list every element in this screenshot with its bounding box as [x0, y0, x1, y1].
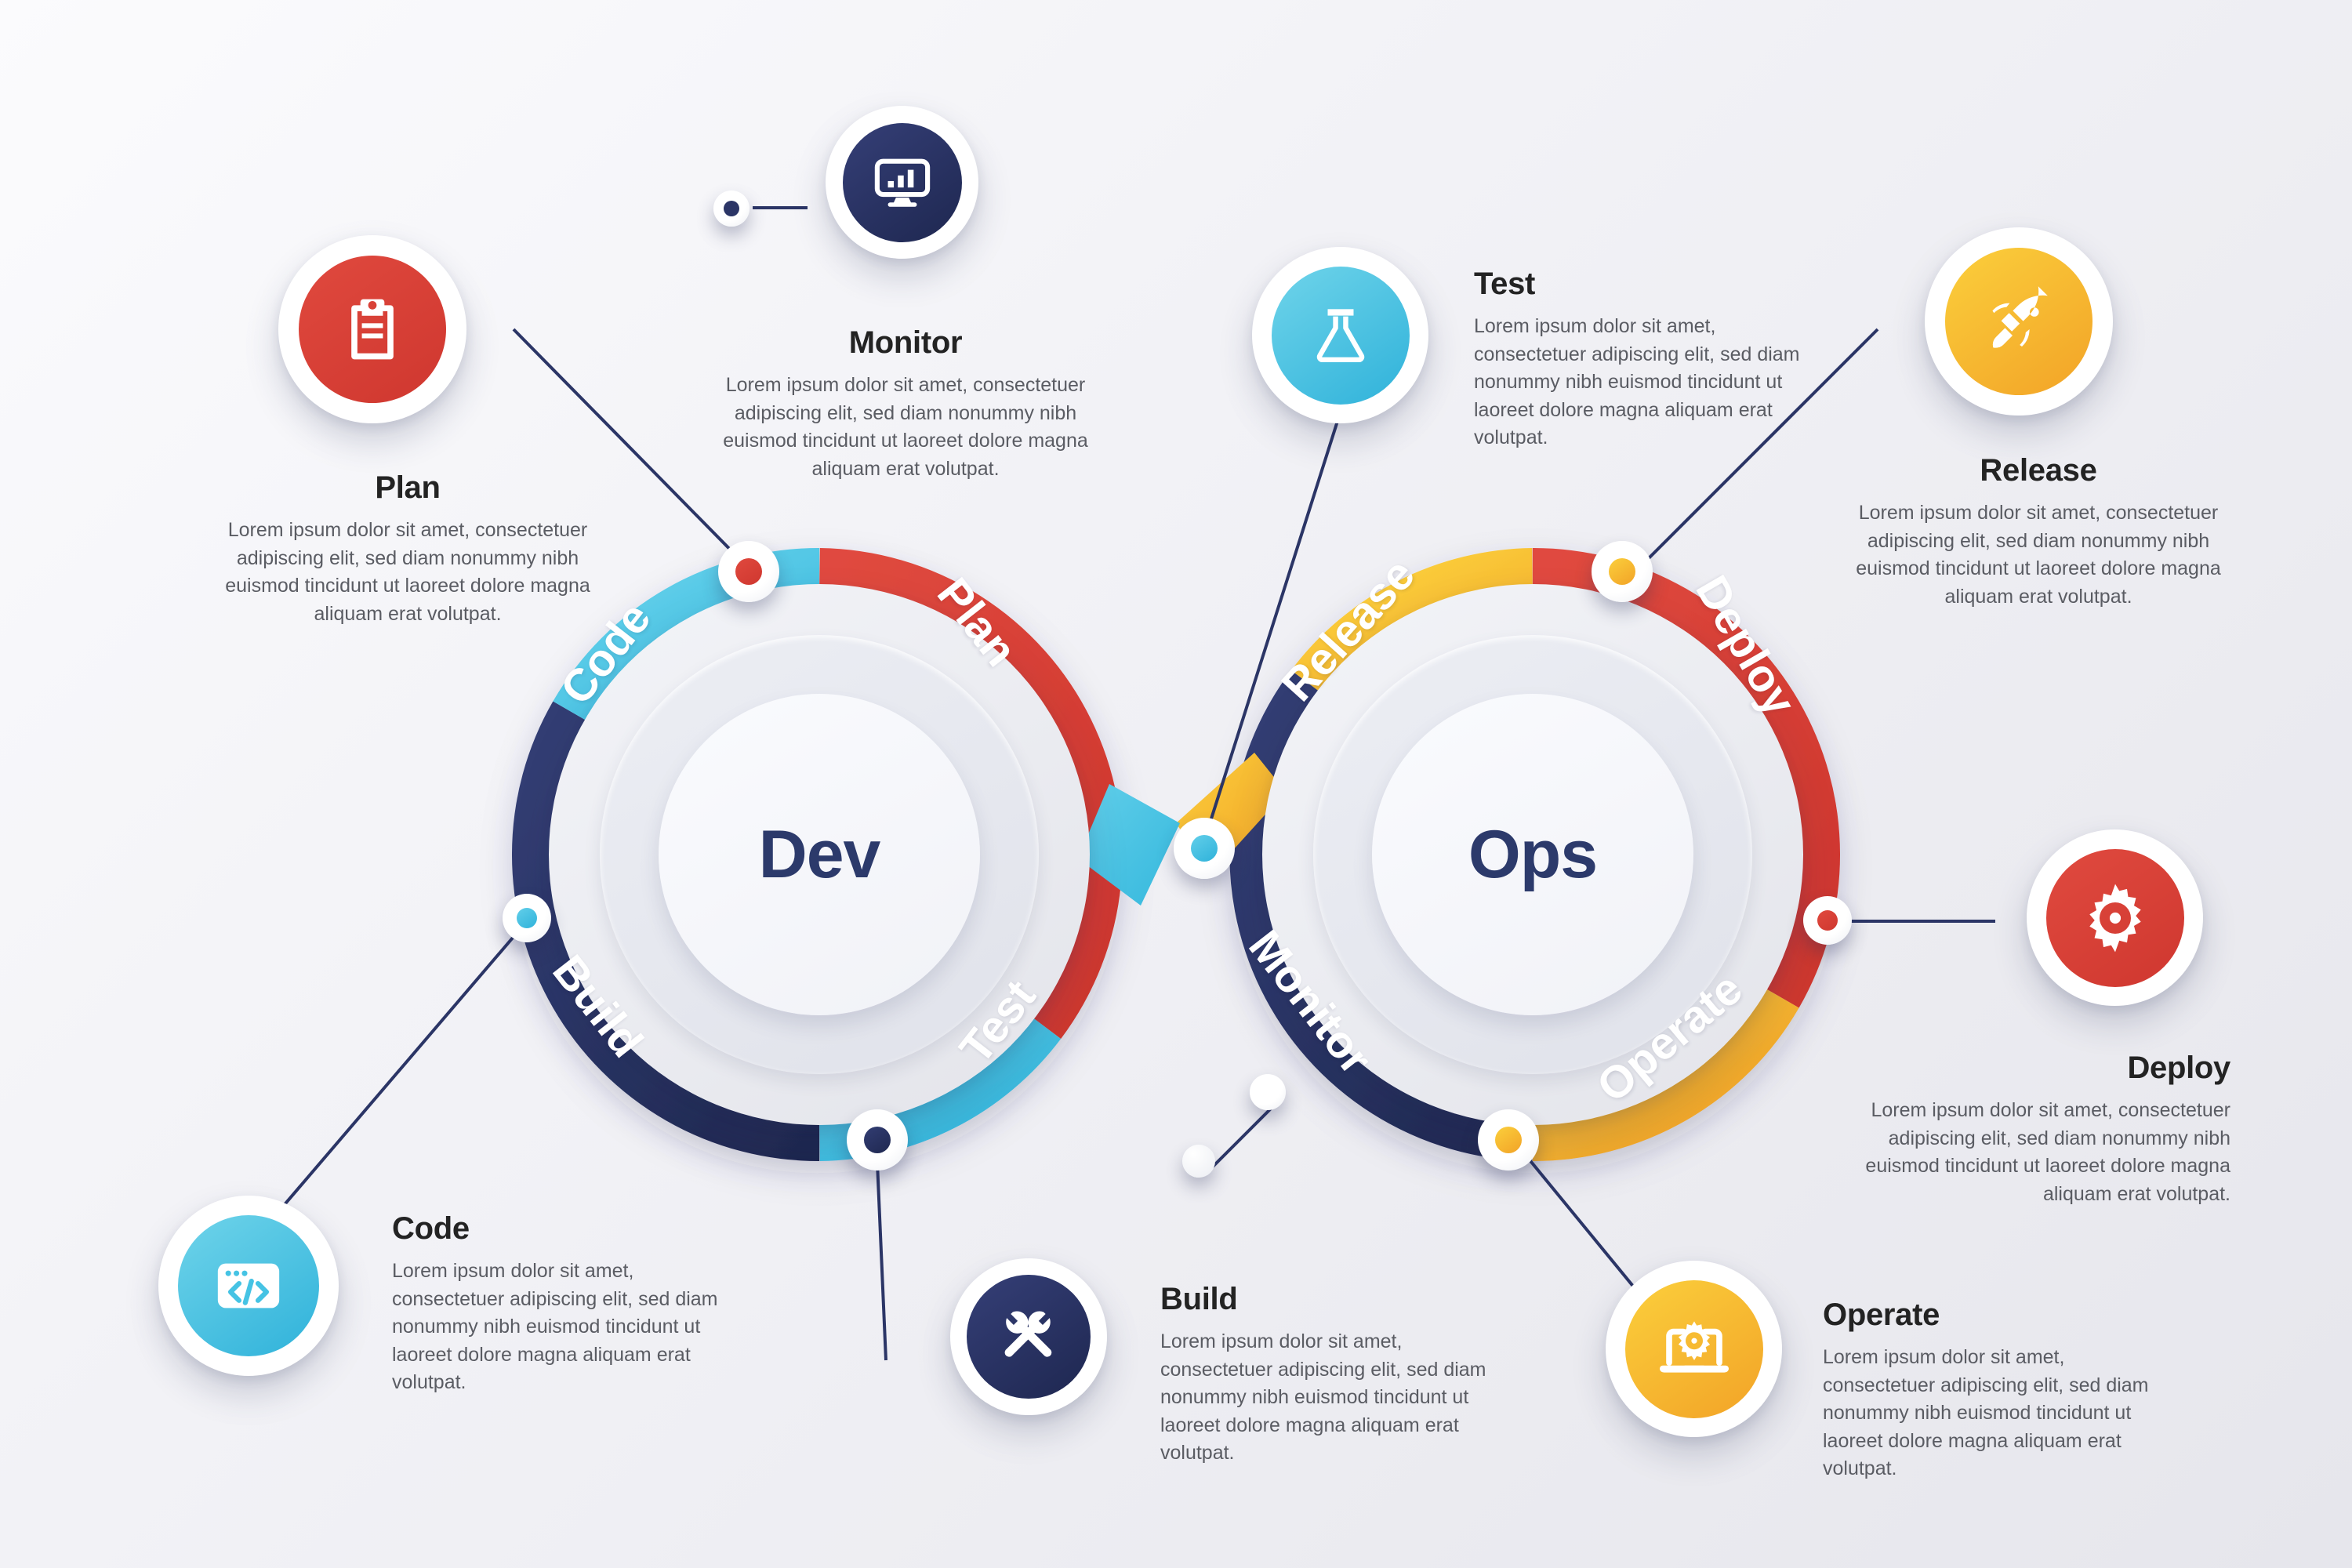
code-window-icon: [209, 1247, 288, 1325]
node-code[interactable]: [503, 894, 551, 942]
block-body-release: Lorem ipsum dolor sit amet, consectetuer…: [1846, 499, 2230, 611]
text-block-code: Code Lorem ipsum dolor sit amet, consect…: [392, 1211, 721, 1397]
node-build[interactable]: [847, 1109, 908, 1171]
text-block-plan: Plan Lorem ipsum dolor sit amet, consect…: [212, 470, 604, 628]
badge-test[interactable]: [1252, 247, 1428, 423]
badge-build[interactable]: [950, 1258, 1107, 1415]
text-block-deploy: Deploy Lorem ipsum dolor sit amet, conse…: [1846, 1051, 2230, 1208]
text-block-test: Test Lorem ipsum dolor sit amet, consect…: [1474, 267, 1803, 452]
block-body-test: Lorem ipsum dolor sit amet, consectetuer…: [1474, 313, 1803, 452]
block-title-release: Release: [1846, 453, 2230, 488]
tools-icon: [994, 1302, 1063, 1371]
block-body-monitor: Lorem ipsum dolor sit amet, consectetuer…: [710, 372, 1102, 483]
block-body-code: Lorem ipsum dolor sit amet, consectetuer…: [392, 1258, 721, 1397]
flask-icon: [1307, 302, 1374, 369]
infographic-canvas: Dev Ops Plan Code Build Test Release Dep…: [0, 0, 2352, 1568]
node-monitor-bottom-end[interactable]: [1182, 1145, 1215, 1178]
wire-build: [877, 1145, 886, 1360]
block-body-operate: Lorem ipsum dolor sit amet, consectetuer…: [1823, 1344, 2152, 1483]
node-deploy[interactable]: [1803, 896, 1852, 945]
badge-code[interactable]: [158, 1196, 339, 1376]
node-plan[interactable]: [718, 541, 779, 602]
block-title-plan: Plan: [212, 470, 604, 506]
block-title-operate: Operate: [1823, 1298, 2152, 1333]
wire-monitor-bottom: [1211, 1102, 1278, 1168]
laptop-gear-icon: [1657, 1312, 1732, 1387]
node-monitor-bottom[interactable]: [1250, 1074, 1286, 1110]
monitor-chart-icon: [870, 151, 935, 215]
block-body-build: Lorem ipsum dolor sit amet, consectetuer…: [1160, 1328, 1490, 1468]
block-title-test: Test: [1474, 267, 1803, 302]
node-operate[interactable]: [1478, 1109, 1539, 1171]
block-title-monitor: Monitor: [710, 325, 1102, 361]
block-title-code: Code: [392, 1211, 721, 1247]
text-block-operate: Operate Lorem ipsum dolor sit amet, cons…: [1823, 1298, 2152, 1483]
block-title-build: Build: [1160, 1282, 1490, 1317]
node-monitor-top-left[interactable]: [713, 191, 750, 227]
text-block-build: Build Lorem ipsum dolor sit amet, consec…: [1160, 1282, 1490, 1468]
dev-hub-label: Dev: [759, 821, 880, 888]
block-title-deploy: Deploy: [1846, 1051, 2230, 1086]
gear-icon: [2076, 879, 2154, 957]
badge-release[interactable]: [1925, 227, 2113, 416]
text-block-release: Release Lorem ipsum dolor sit amet, cons…: [1846, 453, 2230, 611]
ops-hub-label: Ops: [1468, 821, 1597, 888]
text-block-monitor: Monitor Lorem ipsum dolor sit amet, cons…: [710, 325, 1102, 483]
rocket-icon: [1981, 284, 2056, 359]
badge-monitor[interactable]: [826, 106, 978, 259]
node-release[interactable]: [1592, 541, 1653, 602]
block-body-plan: Lorem ipsum dolor sit amet, consectetuer…: [212, 517, 604, 628]
badge-operate[interactable]: [1606, 1261, 1782, 1437]
node-test[interactable]: [1174, 818, 1235, 879]
badge-deploy[interactable]: [2027, 829, 2203, 1006]
badge-plan[interactable]: [278, 235, 466, 423]
clipboard-icon: [336, 293, 408, 365]
block-body-deploy: Lorem ipsum dolor sit amet, consectetuer…: [1846, 1097, 2230, 1208]
